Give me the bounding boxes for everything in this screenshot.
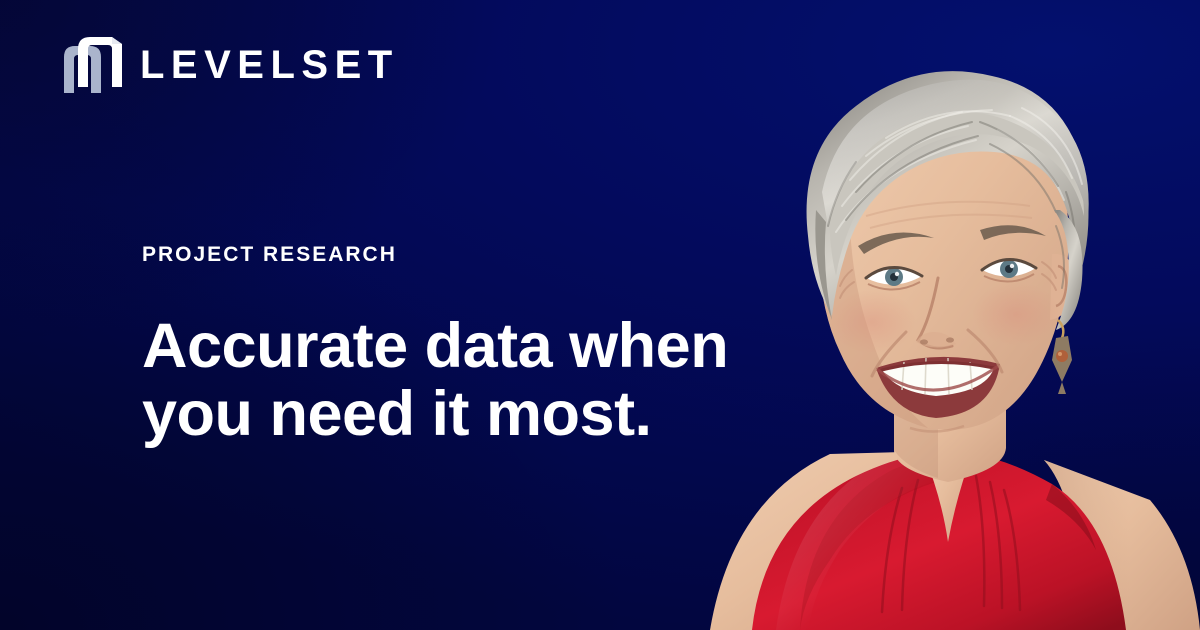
copy-block: PROJECT RESEARCH Accurate data when you …: [142, 243, 762, 448]
page-title: Accurate data when you need it most.: [142, 312, 762, 448]
levelset-logomark-icon: [60, 33, 126, 95]
social-card: LEVELSET PROJECT RESEARCH Accurate data …: [0, 0, 1200, 630]
eyebrow-label: PROJECT RESEARCH: [142, 243, 762, 266]
brand-wordmark: LEVELSET: [140, 43, 399, 85]
headline-line-1: Accurate data when: [142, 312, 762, 380]
headline-line-2: you need it most.: [142, 380, 762, 448]
brand-logo[interactable]: LEVELSET: [60, 33, 399, 95]
